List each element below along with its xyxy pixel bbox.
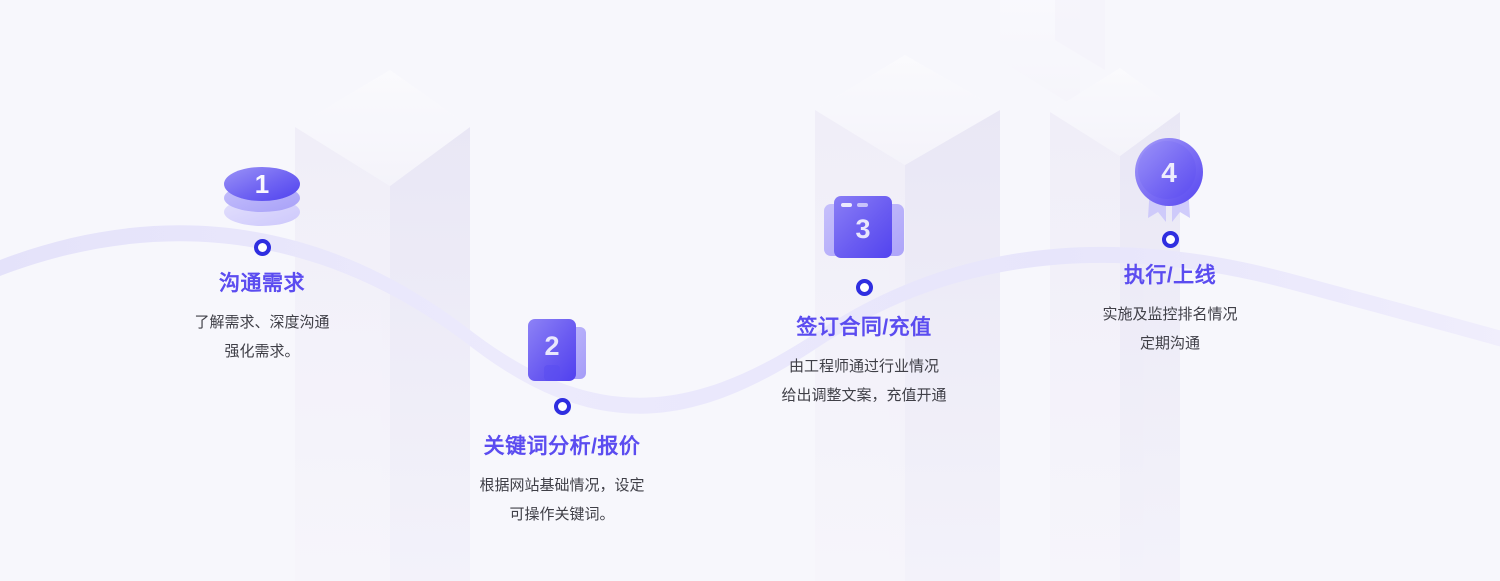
step-4-node-dot[interactable]	[1020, 226, 1320, 252]
step-1-title: 沟通需求	[112, 270, 412, 297]
step-3-icon-wrap: 3	[714, 164, 1014, 274]
step-3-desc-line-1: 由工程师通过行业情况	[714, 352, 1014, 381]
node-ring-icon	[1162, 231, 1179, 248]
step-1-description: 了解需求、深度沟通 强化需求。	[112, 308, 412, 366]
window-dot-1-icon	[841, 203, 852, 207]
node-ring-icon	[554, 398, 571, 415]
step-4-icon-wrap: 4	[1020, 116, 1320, 226]
step-2-number: 2	[544, 331, 559, 361]
step-4-title: 执行/上线	[1020, 262, 1320, 289]
step-4-desc-line-1: 实施及监控排名情况	[1020, 300, 1320, 329]
process-step-1[interactable]: 1 沟通需求 了解需求、深度沟通 强化需求。	[112, 124, 412, 366]
step-2-node-dot[interactable]	[412, 393, 712, 419]
step-3-description: 由工程师通过行业情况 给出调整文案，充值开通	[714, 352, 1014, 410]
process-step-3[interactable]: 3 签订合同/充值 由工程师通过行业情况 给出调整文案，充值开通	[714, 164, 1014, 410]
step-4-desc-line-2: 定期沟通	[1020, 329, 1320, 358]
browser-window-icon: 3	[818, 190, 910, 274]
document-cards-icon: 2	[516, 313, 608, 393]
medal-ribbon-icon: 4	[1120, 130, 1220, 226]
step-1-node-dot[interactable]	[112, 234, 412, 260]
node-ring-icon	[254, 239, 271, 256]
step-4-number: 4	[1161, 157, 1177, 188]
process-step-2[interactable]: 2 关键词分析/报价 根据网站基础情况，设定 可操作关键词。	[412, 283, 712, 529]
step-2-title: 关键词分析/报价	[412, 433, 712, 460]
process-step-4[interactable]: 4 执行/上线 实施及监控排名情况 定期沟通	[1020, 116, 1320, 358]
step-1-icon-wrap: 1	[112, 124, 412, 234]
step-3-desc-line-2: 给出调整文案，充值开通	[714, 381, 1014, 410]
background-slab	[1055, 0, 1105, 70]
step-2-desc-line-2: 可操作关键词。	[412, 500, 712, 529]
step-1-number: 1	[255, 169, 269, 199]
step-1-desc-line-2: 强化需求。	[112, 337, 412, 366]
step-3-number: 3	[855, 214, 870, 244]
node-ring-icon	[856, 279, 873, 296]
stacked-discs-icon: 1	[216, 142, 308, 234]
step-2-description: 根据网站基础情况，设定 可操作关键词。	[412, 471, 712, 529]
step-2-desc-line-1: 根据网站基础情况，设定	[412, 471, 712, 500]
window-dot-2-icon	[857, 203, 868, 207]
step-4-description: 实施及监控排名情况 定期沟通	[1020, 300, 1320, 358]
process-flow-infographic: 1 沟通需求 了解需求、深度沟通 强化需求。	[0, 0, 1500, 581]
step-3-node-dot[interactable]	[714, 274, 1014, 300]
step-2-icon-wrap: 2	[412, 283, 712, 393]
step-1-desc-line-1: 了解需求、深度沟通	[112, 308, 412, 337]
step-3-title: 签订合同/充值	[714, 314, 1014, 341]
